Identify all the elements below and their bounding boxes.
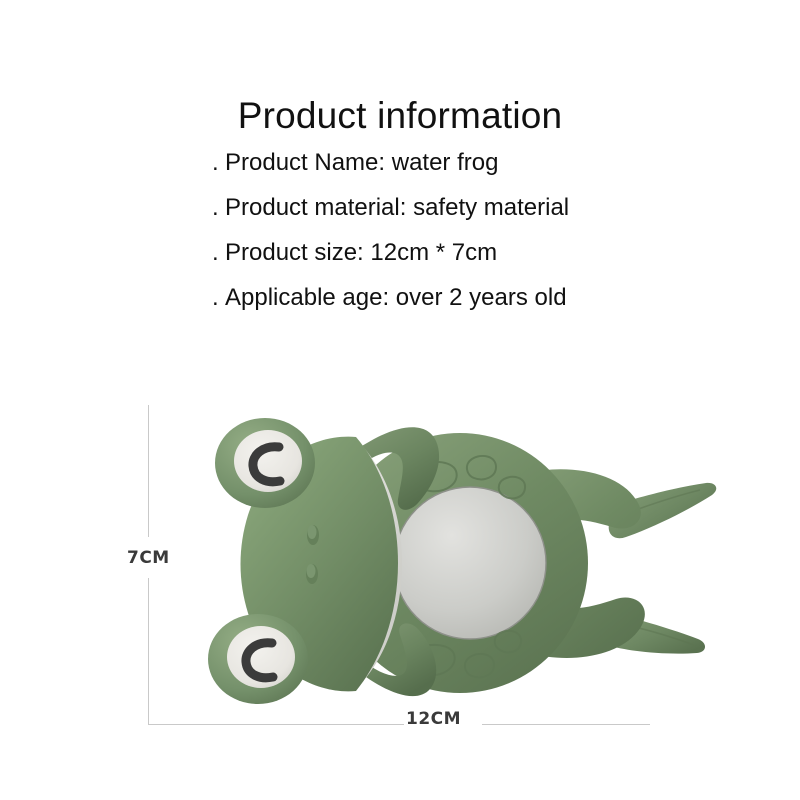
product-spec-list: .Product Name: water frog .Product mater… [212, 140, 732, 320]
bullet-icon: . [212, 230, 225, 275]
spec-item-applicable-age: .Applicable age: over 2 years old [212, 275, 732, 320]
spec-item-label: Product size: 12cm * 7cm [225, 239, 497, 266]
spec-item-product-material: .Product material: safety material [212, 185, 732, 230]
spec-item-product-name: .Product Name: water frog [212, 140, 732, 185]
bullet-icon: . [212, 275, 225, 320]
bullet-icon: . [212, 140, 225, 185]
eye-upper [215, 418, 315, 508]
spec-item-label: Product Name: water frog [225, 149, 498, 176]
page-title: Product information [0, 97, 800, 134]
spec-item-label: Applicable age: over 2 years old [225, 284, 567, 311]
eye-lower [208, 614, 308, 704]
product-image [160, 411, 740, 751]
guide-line-vertical-bottom [148, 578, 149, 725]
spec-item-product-size: .Product size: 12cm * 7cm [212, 230, 732, 275]
spec-item-label: Product material: safety material [225, 194, 569, 221]
windup-disc [394, 487, 546, 639]
guide-line-vertical-top [148, 405, 149, 537]
bullet-icon: . [212, 185, 225, 230]
